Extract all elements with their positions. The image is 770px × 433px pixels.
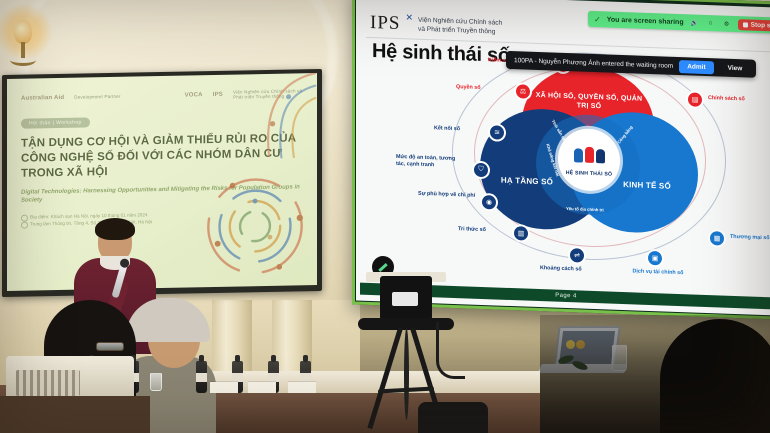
node-label: Thương mại số — [730, 234, 769, 243]
node-label: Chính sách số — [708, 95, 745, 104]
node-label: Dịch vụ tài chính số — [630, 268, 686, 277]
node-coins-icon: ◉ — [482, 195, 496, 210]
node-label: Kết nối số — [434, 125, 460, 133]
waiting-room-message: 100PA - Nguyễn Phương Ánh entered the wa… — [514, 57, 673, 70]
projection-screen: Australian Aid Development Partner VOCA … — [2, 69, 322, 297]
check-icon: ✓ — [594, 15, 601, 24]
name-card — [248, 382, 276, 393]
node-label: Mức độ an toàn, tương tác, cạnh tranh — [396, 154, 464, 171]
wall-sconce-lamp — [6, 14, 40, 66]
water-bottle — [196, 361, 207, 393]
ips-logo: IPS ✕ Viện Nghiên cứu Chính sách và Phát… — [370, 13, 502, 38]
stop-square-icon — [743, 22, 748, 27]
speaker-icon[interactable]: 🔊 — [690, 17, 700, 27]
page-label: Page 4 — [555, 293, 576, 300]
ips-org-name: Viện Nghiên cứu Chính sách và Phát triển… — [418, 17, 502, 38]
decorative-swirl-icon — [199, 169, 311, 283]
node-label: Khoảng cách số — [540, 265, 582, 274]
projected-slide: Australian Aid Development Partner VOCA … — [7, 73, 317, 291]
node-document-icon: ▤ — [688, 92, 702, 107]
node-label: Sự phù hợp về chi phí — [418, 191, 478, 200]
node-label: Tri thức số — [458, 226, 486, 234]
node-cart-icon: ▦ — [710, 231, 724, 246]
logo-partner: Development Partner — [74, 94, 120, 100]
node-shield-icon: ⛉ — [474, 163, 488, 178]
eyeglasses-icon — [96, 342, 124, 351]
stop-share-button[interactable]: Stop share — [738, 19, 770, 32]
node-book-icon: ▥ — [514, 226, 528, 241]
camera-cable — [436, 322, 465, 379]
workshop-badge: Hội thảo | Workshop — [21, 117, 90, 128]
name-card — [288, 382, 316, 393]
ips-x-icon: ✕ — [405, 12, 413, 23]
logo-ips: IPS — [213, 91, 223, 98]
node-gap-icon: ⇌ — [570, 248, 584, 263]
screenshot-root: Australian Aid Development Partner VOCA … — [0, 0, 770, 433]
projector-table — [0, 396, 150, 433]
logo-voca: VOCA — [185, 92, 203, 99]
view-button[interactable]: View — [720, 61, 755, 75]
node-wallet-icon: ▣ — [648, 251, 662, 266]
shared-slide: IPS ✕ Viện Nghiên cứu Chính sách và Phát… — [356, 0, 770, 316]
ips-wordmark: IPS — [370, 13, 400, 33]
shield-icon[interactable]: ⌂ — [706, 18, 716, 28]
logo-australian-aid: Australian Aid — [21, 94, 64, 102]
venn-label-society: XÃ HỘI SỐ, QUYỀN SỐ, QUẢN TRỊ SỐ — [534, 91, 644, 113]
node-label: Quyền số — [456, 84, 481, 92]
gear-icon[interactable]: ⚙ — [722, 19, 732, 29]
digital-ecosystem-venn: XÃ HỘI SỐ, QUYỀN SỐ, QUẢN TRỊ SỐ HẠ TẦNG… — [474, 63, 704, 246]
sharing-status-text: You are screen sharing — [607, 16, 684, 26]
node-scale-icon: ⚖ — [516, 84, 530, 99]
decorative-arc-icon — [237, 73, 317, 161]
admit-button[interactable]: Admit — [679, 60, 713, 74]
foreground-shadow — [540, 315, 770, 433]
drinking-glass — [150, 373, 162, 391]
screen-sharing-bar: ✓ You are screen sharing 🔊 ⌂ ⚙ Stop shar… — [588, 11, 770, 34]
foreground-person-silhouette — [660, 319, 770, 433]
node-wifi-icon: ≋ — [490, 125, 504, 140]
name-card — [210, 382, 238, 393]
people-icon — [570, 142, 608, 163]
chair — [418, 402, 488, 433]
